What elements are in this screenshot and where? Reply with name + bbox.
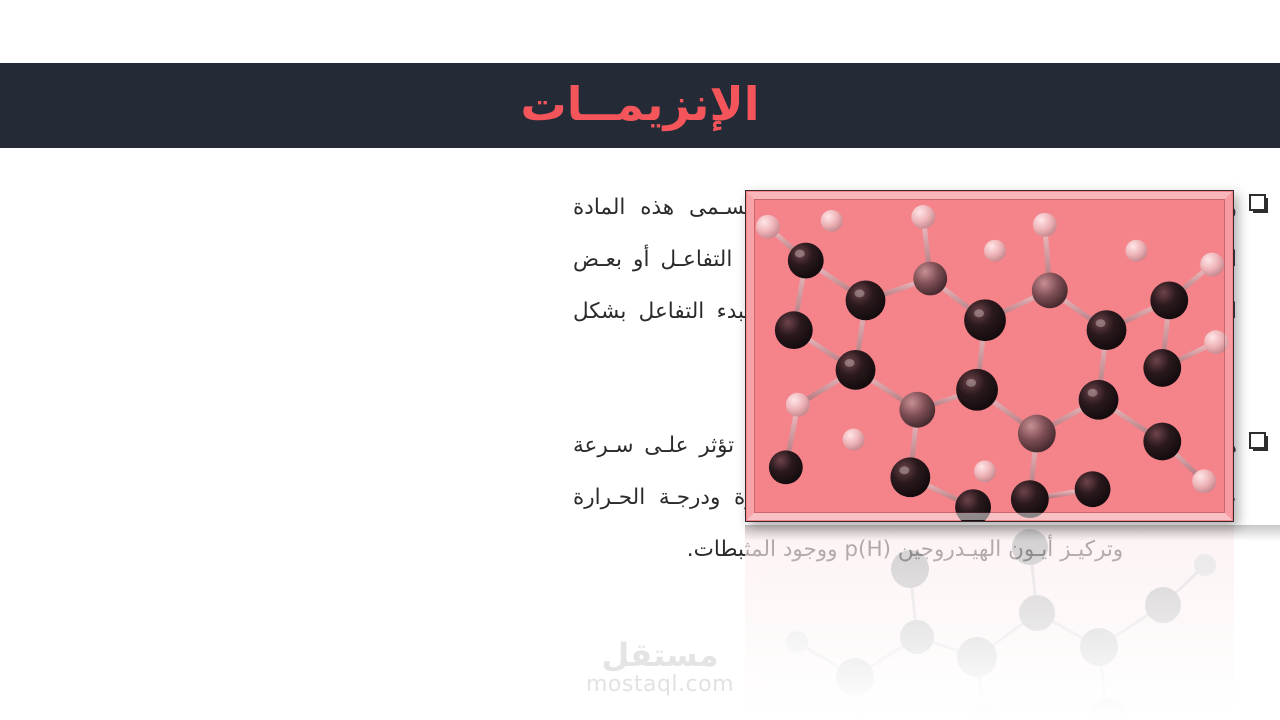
slide-picture[interactable]: [745, 190, 1234, 522]
slide-title-bar: الإنزيمــات: [0, 63, 1280, 148]
presentation-slide: الإنزيمــات وكل إنـزيم متخصـص فـي مـادة …: [0, 0, 1280, 720]
watermark: مستقل mostaql.com: [560, 638, 760, 698]
watermark-arabic-logo: مستقل: [560, 638, 760, 672]
watermark-url: mostaql.com: [560, 672, 760, 698]
hollow-square-bullet-icon: [1249, 194, 1266, 211]
hollow-square-bullet-icon: [1249, 432, 1266, 449]
page-title: الإنزيمــات: [521, 81, 760, 127]
molecule-illustration-icon: [746, 191, 1233, 521]
picture-frame: [745, 190, 1234, 522]
